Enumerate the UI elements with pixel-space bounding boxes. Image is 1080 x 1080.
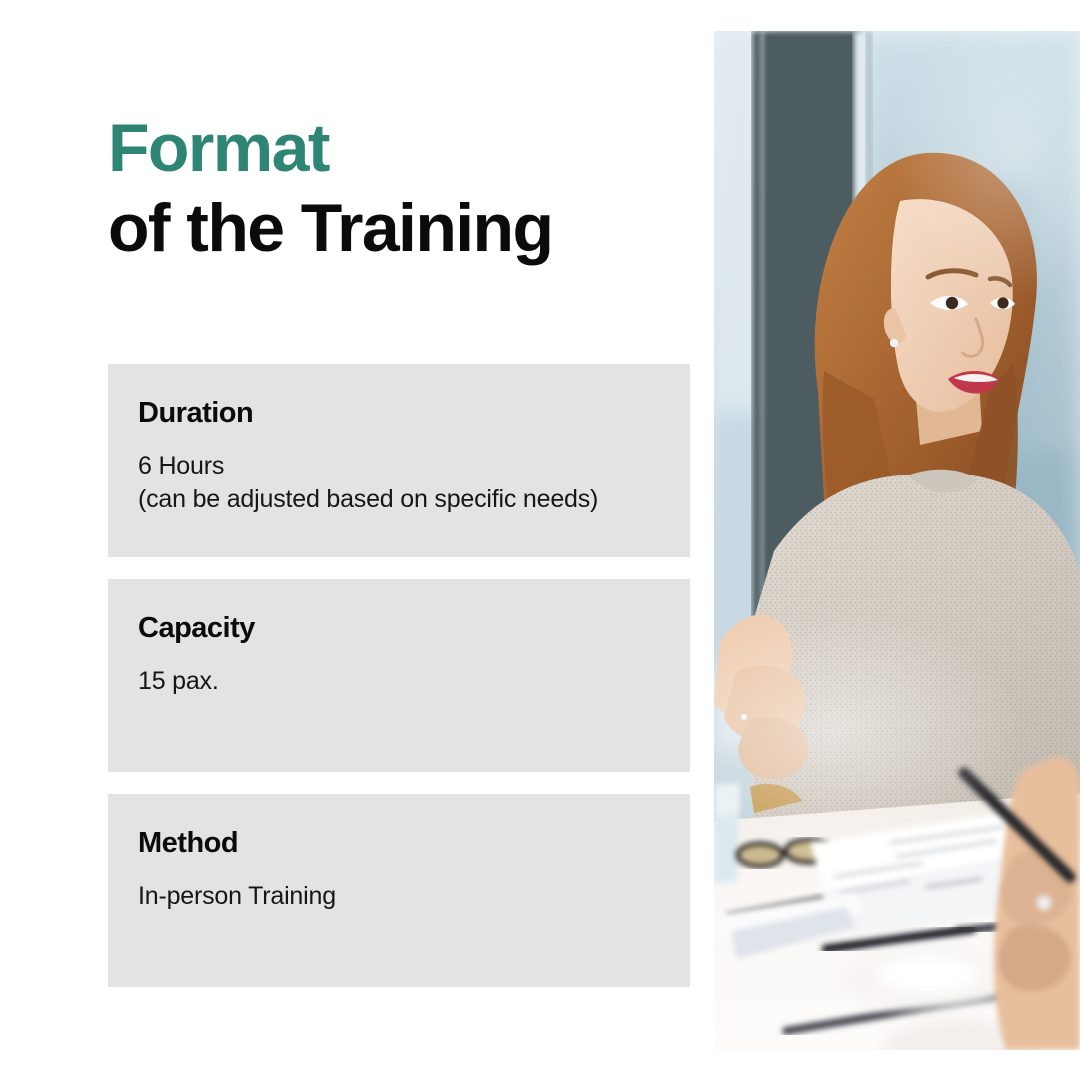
- info-card-method-body-line-1: In-person Training: [138, 880, 660, 914]
- meeting-photo: [714, 31, 1080, 1050]
- page-title-line-2: of the Training: [108, 188, 690, 268]
- page-title: Format of the Training: [108, 108, 690, 268]
- info-card-capacity-title: Capacity: [138, 613, 660, 645]
- info-card-duration-body: 6 Hours (can be adjusted based on specif…: [138, 450, 660, 517]
- info-card-list: Duration 6 Hours (can be adjusted based …: [108, 364, 690, 987]
- info-card-method: Method In-person Training: [108, 794, 690, 987]
- earring: [890, 339, 898, 347]
- info-card-method-body: In-person Training: [138, 880, 660, 914]
- content-column: Format of the Training Duration 6 Hours …: [108, 0, 690, 1080]
- info-card-duration-title: Duration: [138, 398, 660, 430]
- foreground-ring: [1037, 896, 1051, 910]
- info-card-duration-body-line-2: (can be adjusted based on specific needs…: [138, 483, 660, 517]
- info-card-duration-body-line-1: 6 Hours: [138, 450, 660, 484]
- info-card-capacity: Capacity 15 pax.: [108, 579, 690, 772]
- slide-root: Format of the Training Duration 6 Hours …: [0, 0, 1080, 1080]
- info-card-duration: Duration 6 Hours (can be adjusted based …: [108, 364, 690, 557]
- info-card-capacity-body-line-1: 15 pax.: [138, 665, 660, 699]
- meeting-photo-illustration: [714, 31, 1080, 1050]
- eye-left-iris: [946, 297, 958, 309]
- info-card-method-title: Method: [138, 828, 660, 860]
- info-card-capacity-body: 15 pax.: [138, 665, 660, 699]
- page-title-line-1: Format: [108, 108, 690, 188]
